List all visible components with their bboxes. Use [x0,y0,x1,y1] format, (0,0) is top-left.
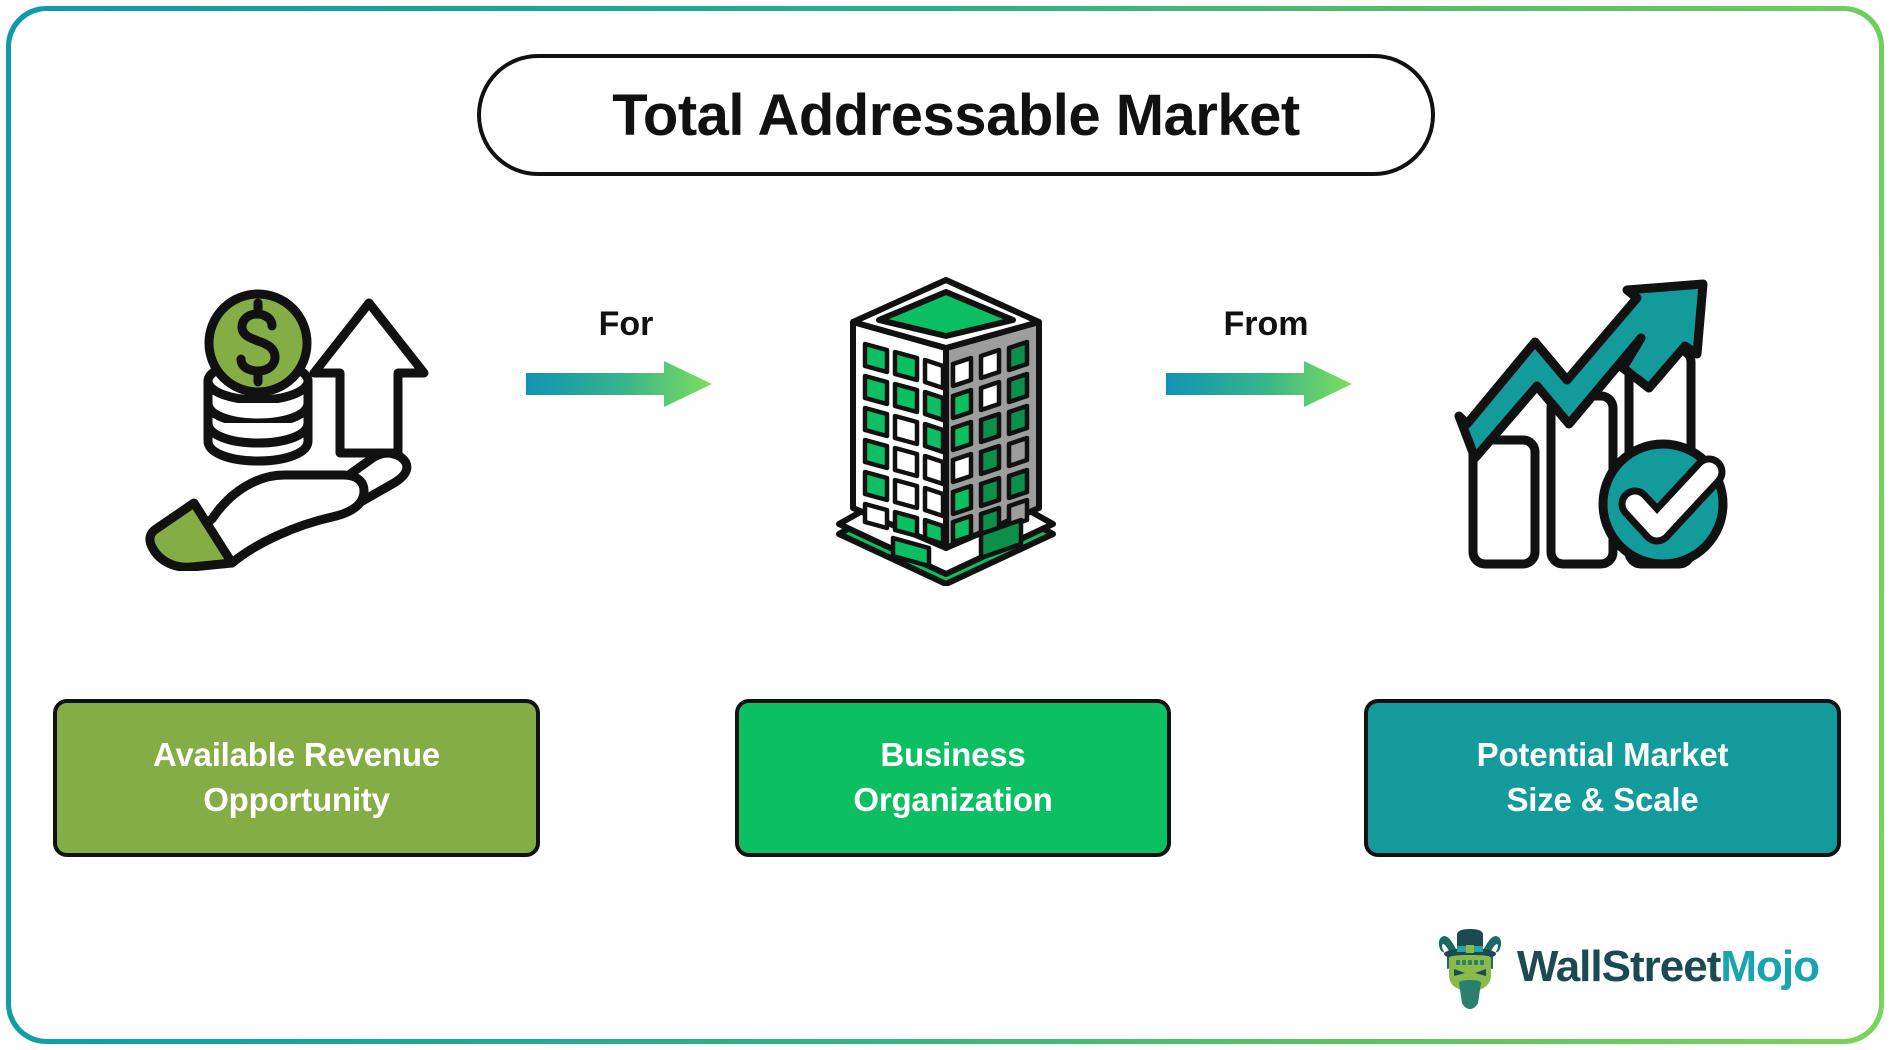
connector-1-arrow [526,361,726,407]
frame-inner: Total Addressable Market [11,11,1879,1039]
connector-2: From [1166,307,1366,407]
wallstreetmojo-logo[interactable]: WallStreetMojo [1435,925,1819,1009]
label-box-2-line1: Business [853,733,1052,778]
money-in-hand-icon [136,281,436,571]
label-box-3-text: Potential Market Size & Scale [1477,733,1729,822]
growth-chart-check-icon [1441,276,1751,576]
step-3-icon-cell [1411,261,1781,591]
connector-2-label: From [1166,307,1366,341]
logo-word-part2: Mojo [1720,942,1819,991]
step-1-icon-cell [101,261,471,591]
title-pill: Total Addressable Market [477,54,1435,176]
label-box-2-text: Business Organization [853,733,1052,822]
label-box-potential-market-size-scale[interactable]: Potential Market Size & Scale [1364,699,1841,857]
label-box-2-line2: Organization [853,778,1052,823]
label-boxes: Available Revenue Opportunity Business O… [11,699,1879,857]
label-box-1-text: Available Revenue Opportunity [153,733,440,822]
page-title: Total Addressable Market [612,82,1299,149]
logo-wordmark: WallStreetMojo [1517,945,1819,989]
label-box-1-line2: Opportunity [153,778,440,823]
icon-row [11,261,1879,591]
outer-gradient-frame: Total Addressable Market [6,6,1884,1044]
label-box-available-revenue-opportunity[interactable]: Available Revenue Opportunity [53,699,540,857]
bull-mascot-icon [1435,925,1505,1009]
label-box-3-line1: Potential Market [1477,733,1729,778]
label-box-3-line2: Size & Scale [1477,778,1729,823]
connector-1-label: For [526,307,726,341]
label-box-business-organization[interactable]: Business Organization [735,699,1171,857]
label-box-1-line1: Available Revenue [153,733,440,778]
connector-1: For [526,307,726,407]
infographic-canvas: Total Addressable Market [0,0,1890,1050]
office-building-icon [821,266,1071,586]
connector-2-arrow [1166,361,1366,407]
step-2-icon-cell [761,261,1131,591]
logo-word-part1: WallStreet [1517,942,1721,991]
